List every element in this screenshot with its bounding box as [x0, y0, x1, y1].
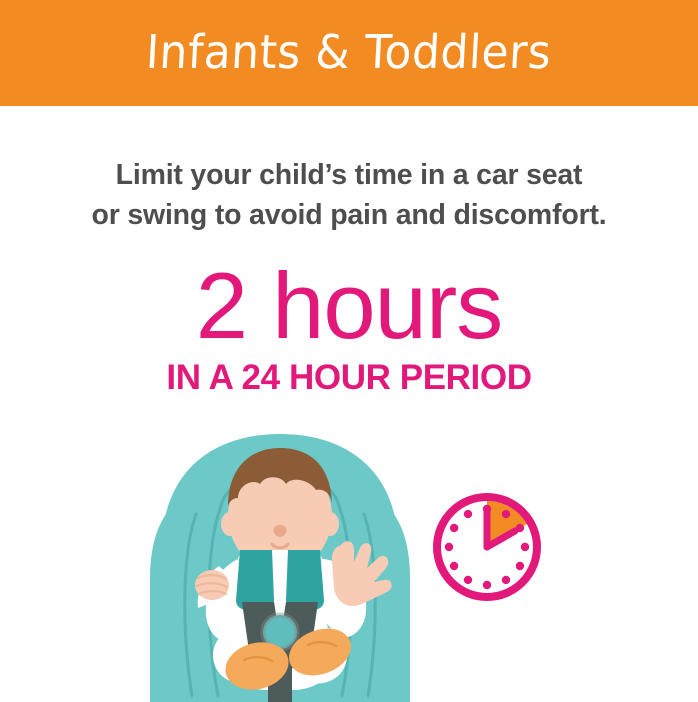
- stat-caption: IN A 24 HOUR PERIOD: [0, 360, 698, 395]
- statistic-block: 2 hours IN A 24 HOUR PERIOD: [0, 258, 698, 395]
- baby-in-car-seat-illustration: [140, 428, 420, 702]
- intro-line-2: or swing to avoid pain and discomfort.: [0, 195, 698, 235]
- infographic-page: Infants & Toddlers Limit your child’s ti…: [0, 0, 698, 702]
- intro-line-1: Limit your child’s time in a car seat: [0, 155, 698, 195]
- stat-value: 2 hours: [0, 258, 698, 354]
- intro-paragraph: Limit your child’s time in a car seat or…: [0, 155, 698, 236]
- clock-icon: [428, 488, 546, 606]
- baby-fist: [195, 570, 229, 600]
- page-title: Infants & Toddlers: [145, 30, 553, 77]
- header-banner: Infants & Toddlers: [0, 0, 698, 106]
- illustration-area: [0, 428, 698, 702]
